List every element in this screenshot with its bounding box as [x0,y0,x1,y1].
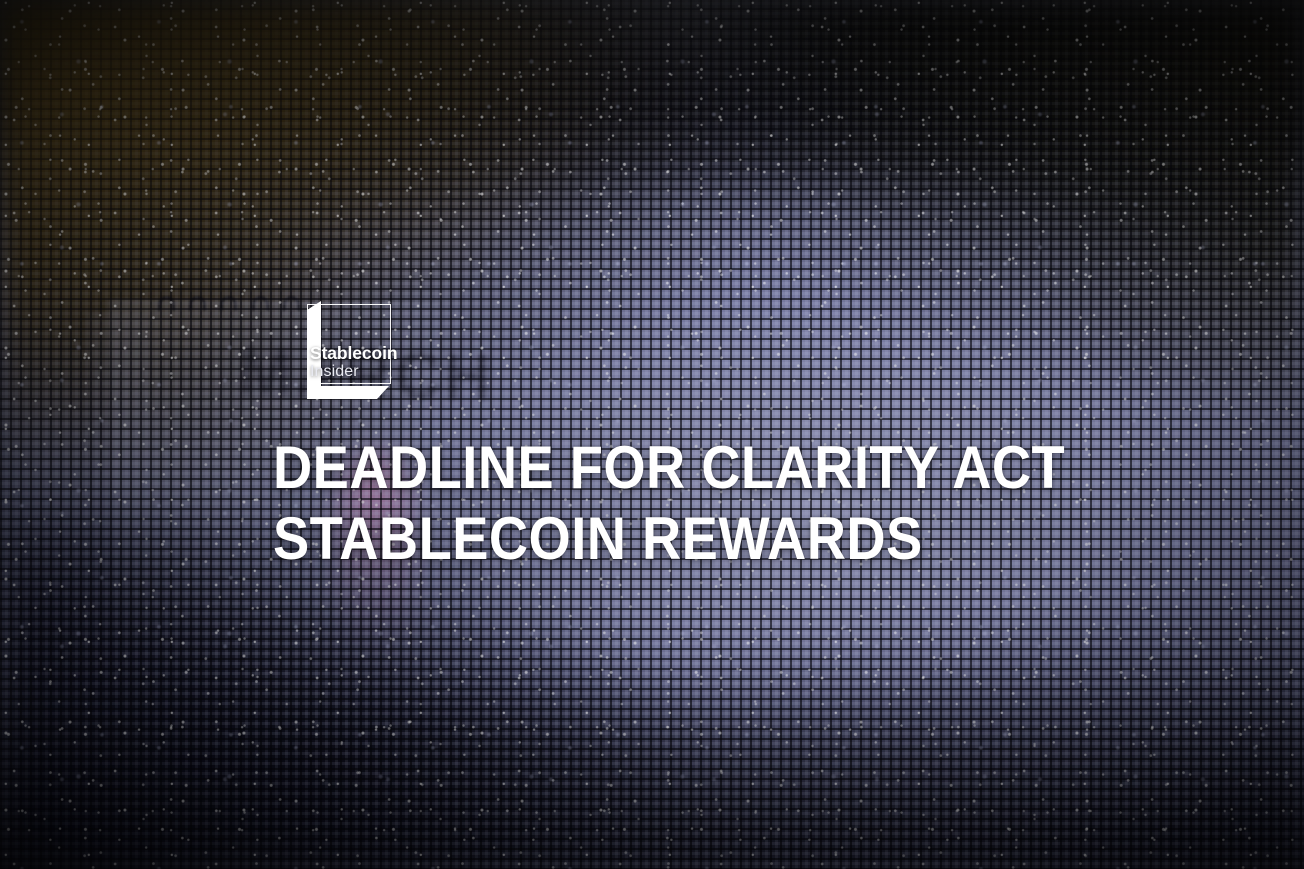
headline-line-2: STABLECOIN REWARDS [273,503,1051,574]
logo-brand-name: Stablecoin [310,345,394,363]
stablecoin-insider-logo[interactable]: Stablecoin Insider [281,300,393,400]
logo-wordmark: Stablecoin Insider [310,345,394,380]
logo-brand-subtitle: Insider [310,364,394,380]
headline: DEADLINE FOR CLARITY ACT STABLECOIN REWA… [273,432,1133,574]
headline-line-1: DEADLINE FOR CLARITY ACT [273,432,1051,503]
hero-image: MARCH Stablecoin Insider DEADLINE FOR CL… [0,0,1304,869]
